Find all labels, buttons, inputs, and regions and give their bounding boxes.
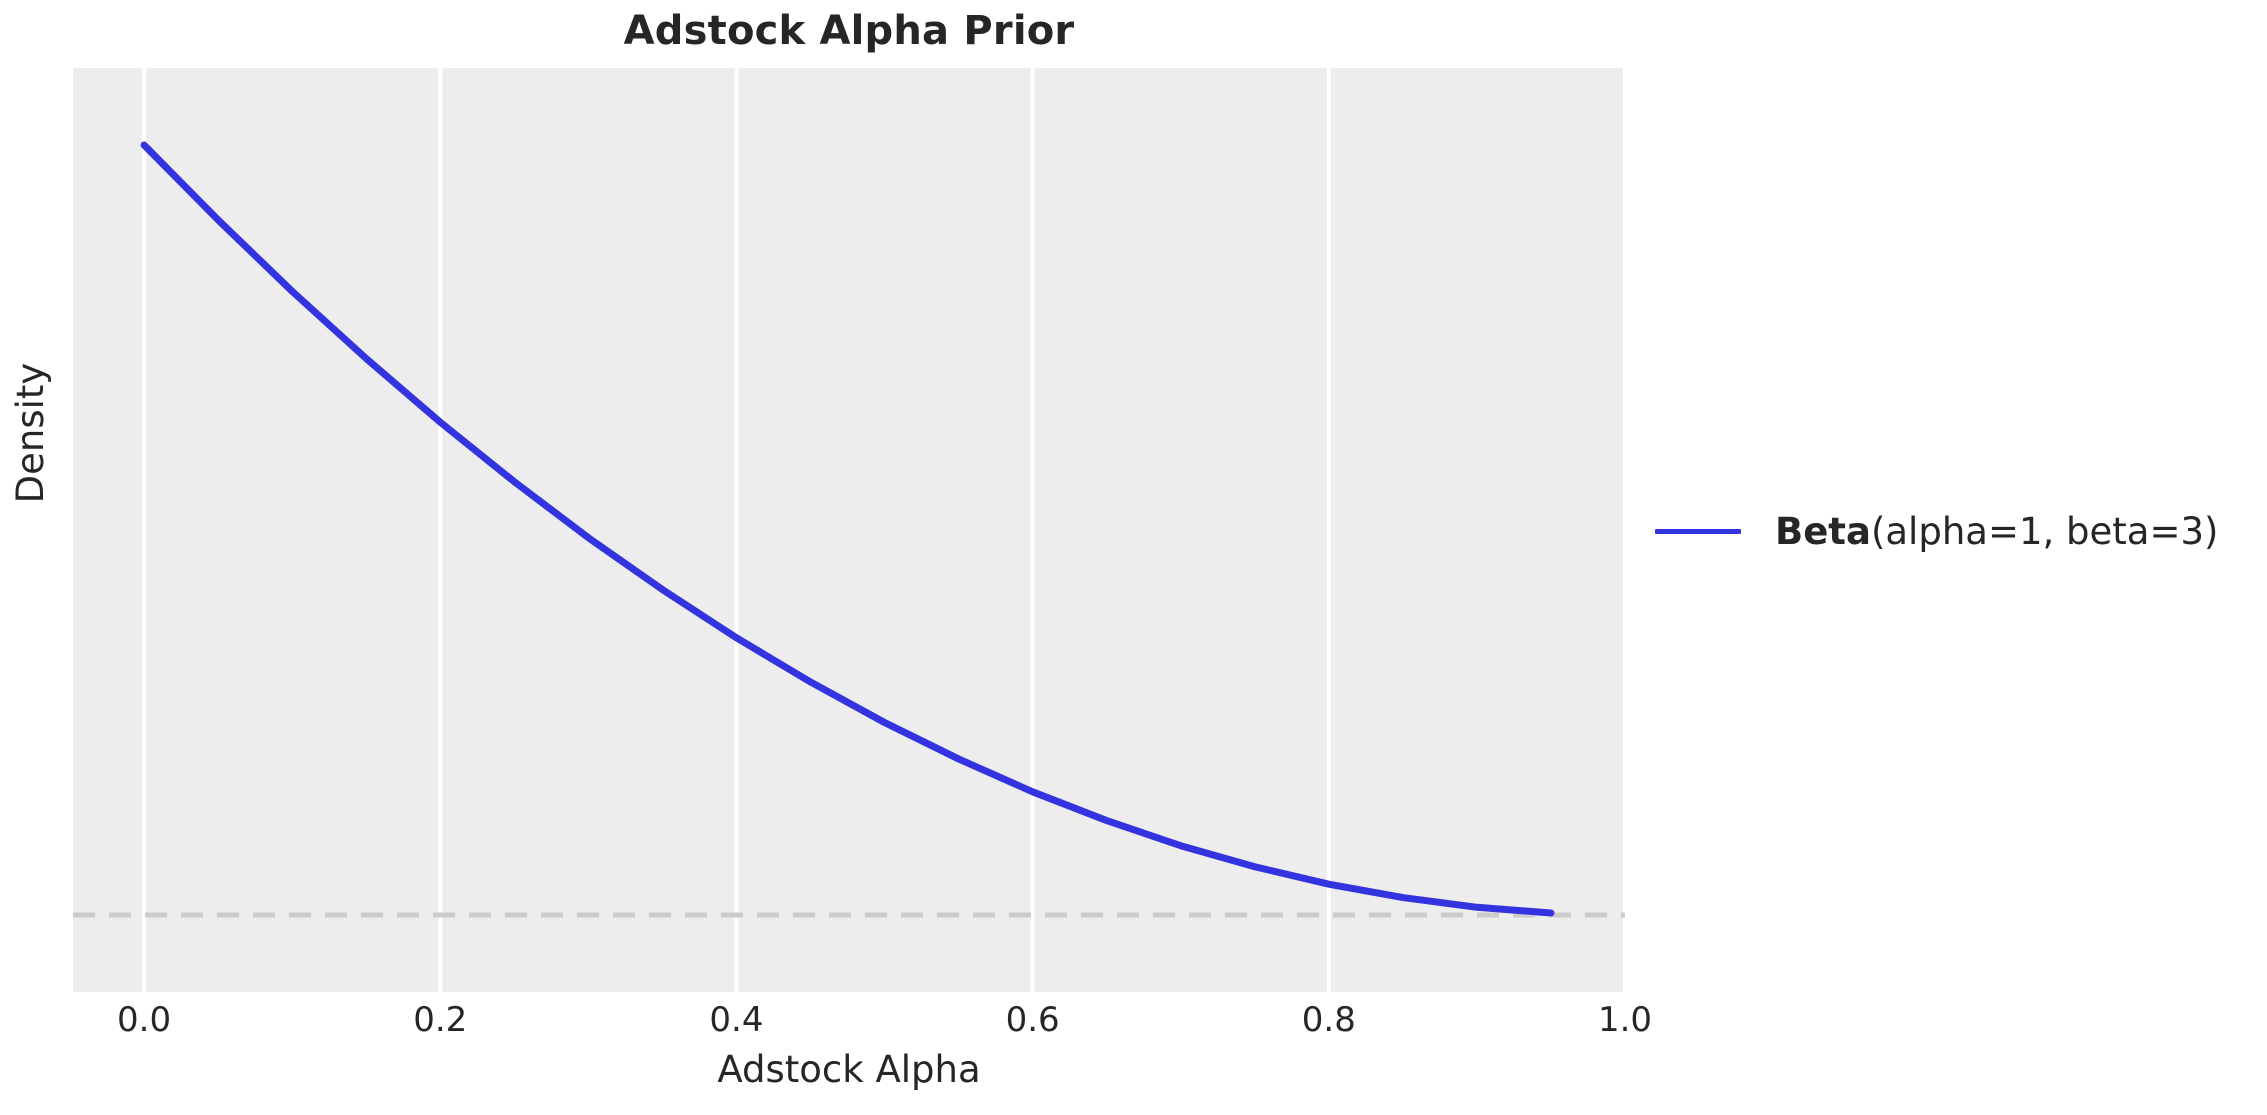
data-series-group: [144, 145, 1551, 913]
x-tick-label-0.2: 0.2: [370, 1000, 510, 1040]
legend-item-label: Beta(alpha=1, beta=3): [1775, 510, 2218, 553]
x-axis-label: Adstock Alpha: [73, 1048, 1625, 1091]
legend-line-swatch-icon: [1655, 500, 1741, 562]
legend: Beta(alpha=1, beta=3): [1655, 500, 2218, 562]
legend-label-distribution: Beta: [1775, 510, 1871, 553]
chart-figure: Adstock Alpha Prior 0.00.20.40.60.81.0 A…: [0, 0, 2267, 1115]
y-axis-label-wrapper: Density: [0, 303, 60, 563]
data-line-series-0: [144, 145, 1551, 913]
plot-svg: [73, 68, 1625, 992]
legend-label-params: (alpha=1, beta=3): [1871, 510, 2218, 553]
x-tick-label-0.4: 0.4: [666, 1000, 806, 1040]
plot-area: [73, 68, 1625, 992]
x-tick-label-0.0: 0.0: [74, 1000, 214, 1040]
y-axis-label: Density: [9, 363, 52, 504]
x-tick-label-0.8: 0.8: [1259, 1000, 1399, 1040]
gridlines-group: [144, 68, 1625, 992]
x-tick-label-0.6: 0.6: [963, 1000, 1103, 1040]
x-tick-label-1.0: 1.0: [1555, 1000, 1695, 1040]
page-title: Adstock Alpha Prior: [0, 8, 1698, 54]
legend-item-beta: Beta(alpha=1, beta=3): [1655, 500, 2218, 562]
